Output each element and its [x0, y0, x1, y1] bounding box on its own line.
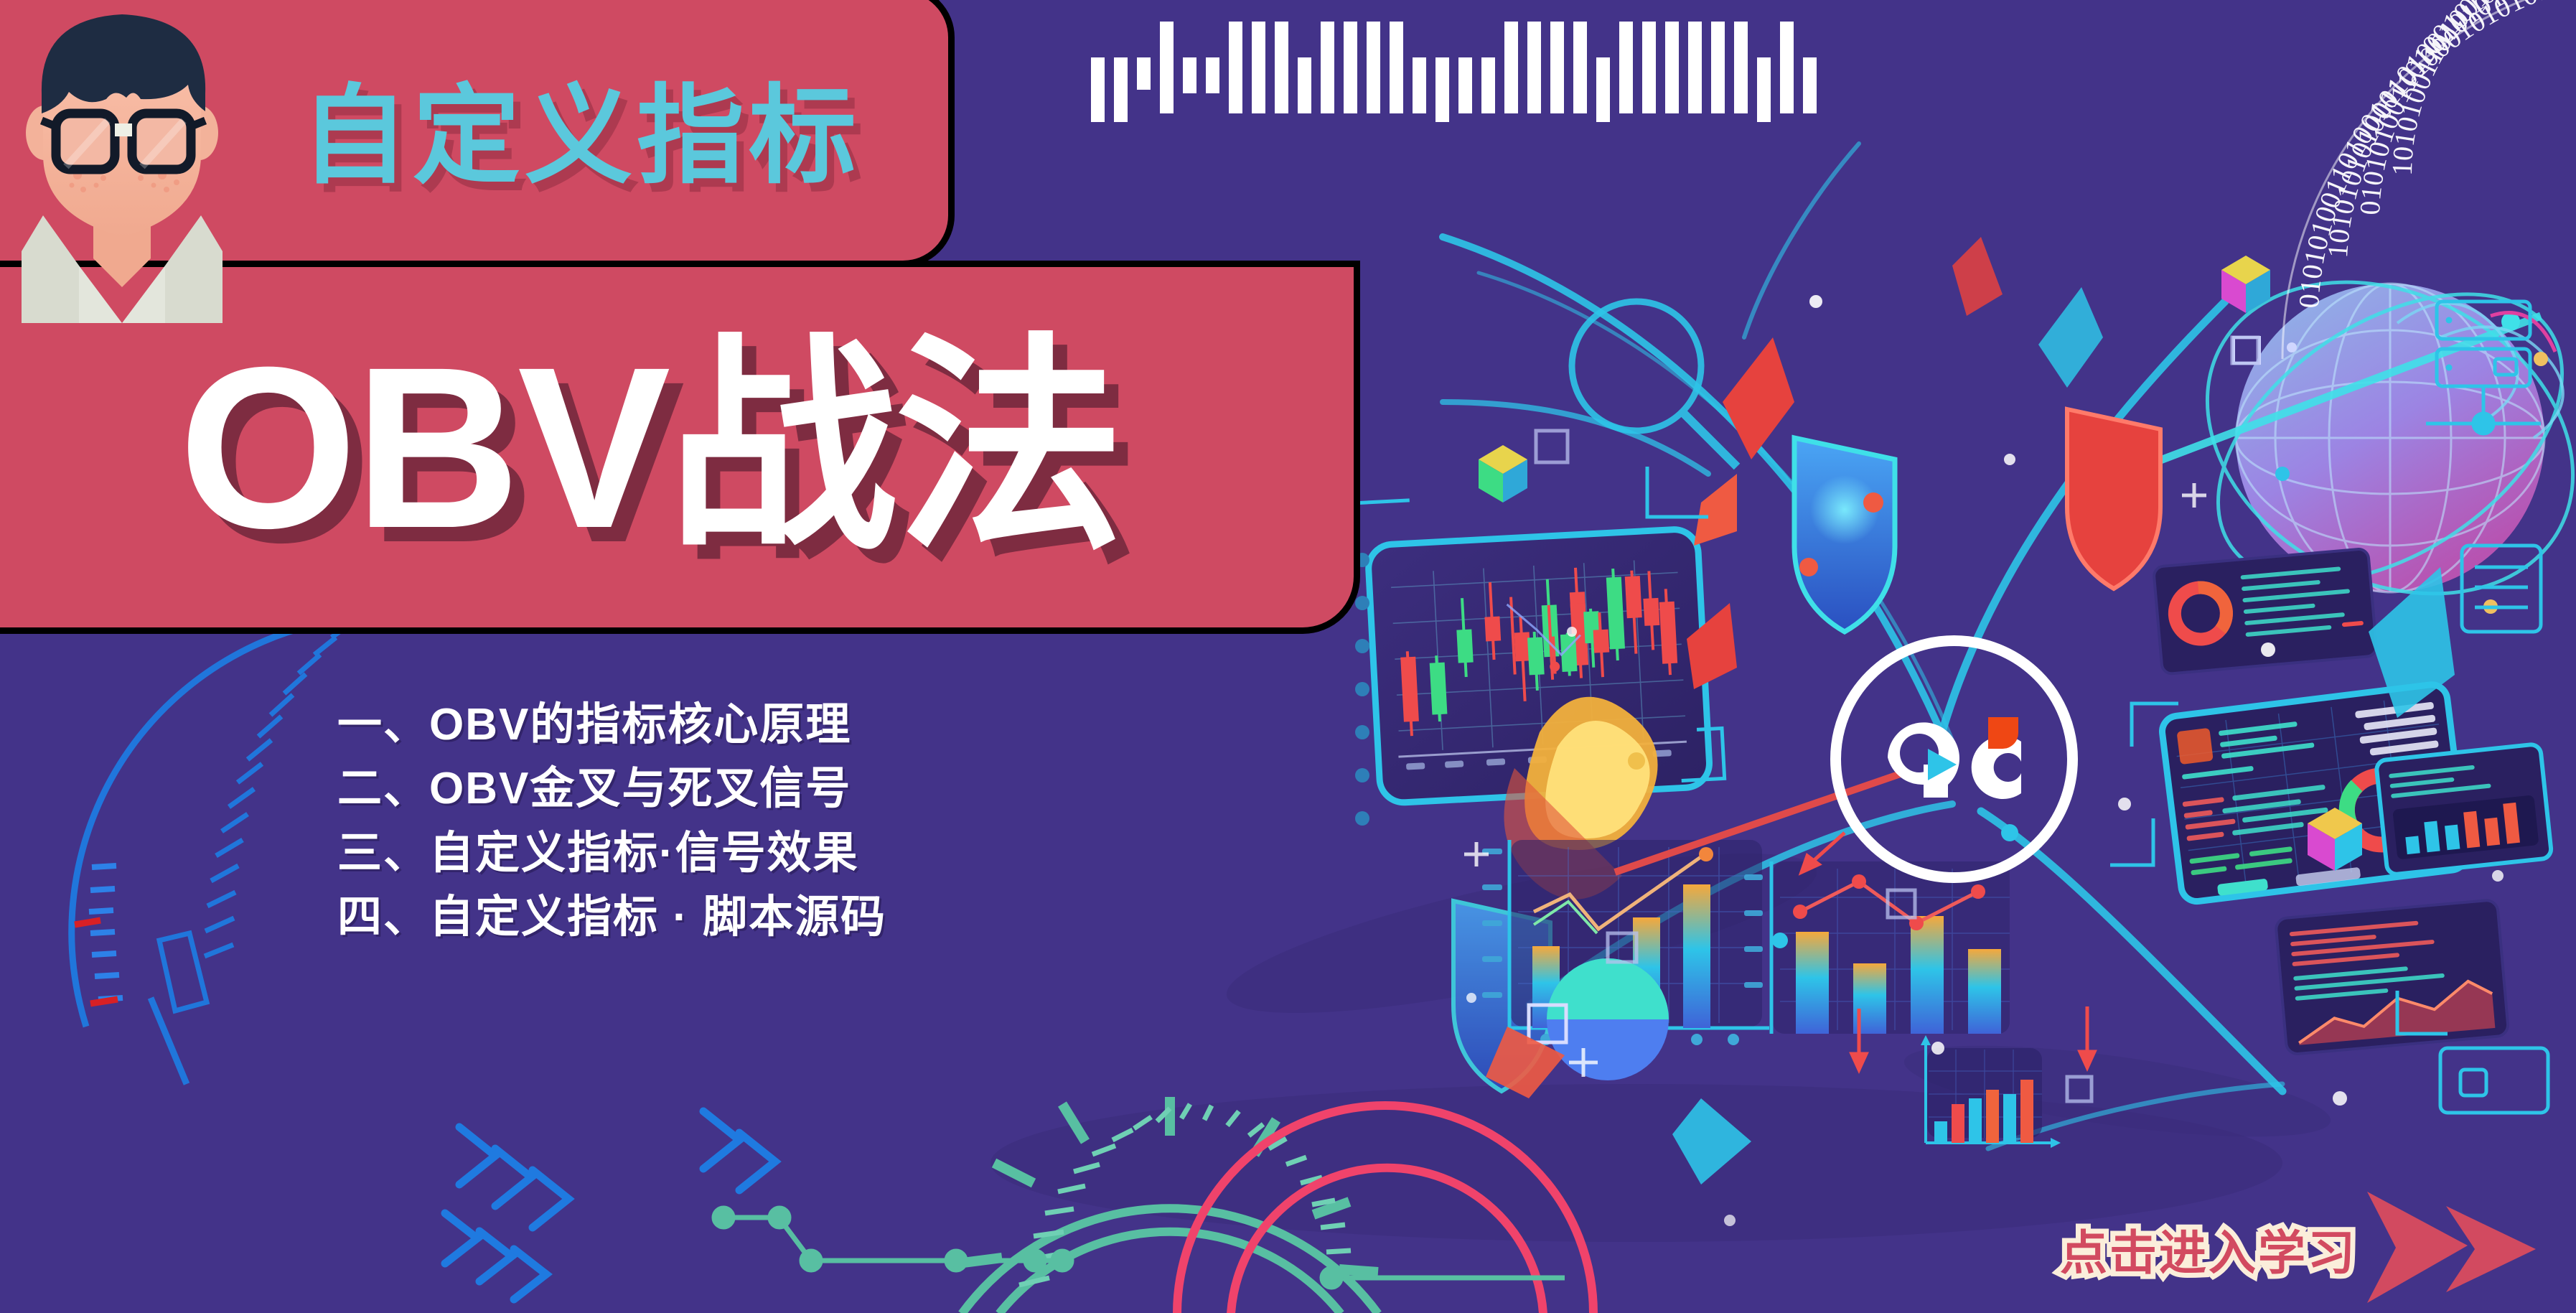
barcode-bar: [1527, 22, 1541, 113]
barcode-bar: [1803, 57, 1817, 113]
bar-chart-widget-1: [1482, 840, 1769, 1045]
flame-icon: [1504, 697, 1657, 900]
barcode-bar: [1481, 57, 1495, 113]
barcode-bar: [1229, 22, 1242, 113]
person-illustration: [0, 0, 244, 323]
barcode-bar: [1780, 22, 1794, 113]
pie-chart-widget: [1547, 958, 1669, 1080]
arrow-right-icon: [2360, 1177, 2539, 1313]
barcode-bar: [1321, 22, 1334, 113]
cube-icon-1: [1479, 445, 1527, 503]
topic-list: 一、OBV的指标核心原理 二、OBV金叉与死叉信号 三、自定义指标·信号效果 四…: [337, 700, 886, 943]
gauge-arc-left: [72, 607, 370, 1084]
shield-icon-bottom: [1453, 901, 1550, 1091]
barcode-bar: [1435, 57, 1449, 122]
shield-icon-top: [1794, 438, 1895, 632]
barcode-bar: [1275, 22, 1288, 113]
barcode-bar: [1206, 57, 1219, 93]
list-item: 二、OBV金叉与死叉信号: [337, 764, 886, 813]
barcode-bar: [1160, 22, 1174, 113]
dashboard-panel-code: [2275, 900, 2509, 1055]
list-item: 四、自定义指标 · 脚本源码: [337, 892, 886, 942]
shield-icon-red: [2067, 409, 2160, 589]
barcode-bar: [1252, 22, 1265, 113]
list-item: 三、自定义指标·信号效果: [337, 828, 886, 878]
barcode-bar: [1665, 22, 1679, 113]
barcode-bar: [1458, 57, 1472, 113]
barcode-bar: [1619, 22, 1633, 113]
candlestick-panel: [1316, 485, 1725, 806]
barcode-bar: [1573, 22, 1587, 113]
gauge-arc-center: [714, 1097, 1593, 1313]
barcode-bar: [1504, 22, 1518, 113]
barcode-bar: [1711, 22, 1725, 113]
list-item: 一、OBV的指标核心原理: [337, 700, 886, 749]
barcode-bar: [1367, 22, 1380, 113]
barcode-bar: [1688, 22, 1702, 113]
banner-canvas: 0101010011010010101000101010101110010101…: [0, 0, 2576, 1313]
barcode-bar: [1596, 57, 1610, 122]
bar-chart-widget-2: [1744, 861, 2010, 1034]
dashboard-panel-small: [2153, 548, 2377, 675]
server-rack-icon: [2426, 302, 2541, 434]
barcode-bar: [1091, 57, 1105, 122]
cube-icon-2: [2221, 256, 2270, 313]
brand-logo[interactable]: [1830, 635, 2078, 883]
barcode-bar: [1344, 22, 1357, 113]
barcode-bar: [1642, 22, 1656, 113]
barcode-bar: [1390, 22, 1403, 113]
cta-label: 点击进入学习: [2060, 1215, 2357, 1284]
cta-button[interactable]: 点击进入学习: [2060, 1177, 2539, 1313]
barcode-bar: [1298, 57, 1311, 113]
dashboard-panel-main: [2160, 683, 2468, 903]
subtitle-badge-label: 自定义指标: [301, 49, 861, 205]
magnifier-icon: [1572, 302, 1737, 467]
barcode-bar: [1550, 22, 1564, 113]
binary-arc-outer: [2282, 0, 2576, 359]
node-icons: [2440, 546, 2548, 1113]
barcode-bar: [1114, 57, 1128, 122]
bar-chart-widget-3: [1921, 1035, 2061, 1148]
globe-graphic: [2125, 221, 2576, 655]
cube-icon-3: [2308, 808, 2362, 871]
barcode-bar: [1734, 22, 1748, 113]
brand-logo-mark: [1872, 706, 2037, 813]
barcode-bar: [1183, 57, 1196, 93]
barcode-bar: [1137, 57, 1151, 90]
page-title: OBV战法: [179, 338, 1121, 556]
swoosh-curves: [1443, 144, 2282, 1149]
barcode-decoration: [1091, 22, 1817, 115]
dashboard-panel-tablet: [2376, 744, 2552, 875]
chevron-arrows: [445, 1111, 775, 1299]
barcode-bar: [1757, 57, 1771, 122]
barcode-bar: [1413, 57, 1426, 113]
